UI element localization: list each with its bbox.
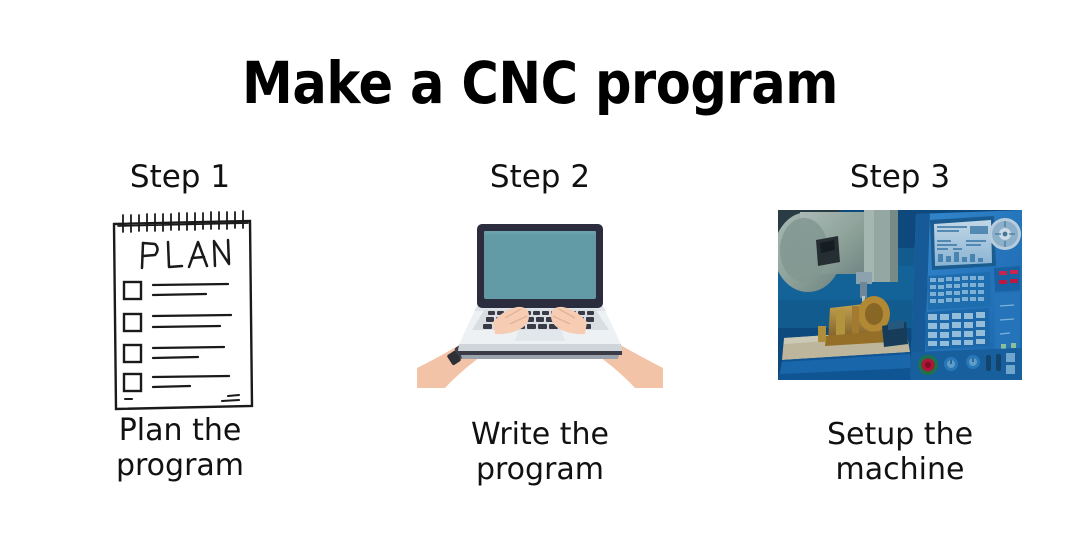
- step-caption-1: Plan the program: [116, 413, 244, 483]
- step-caption-2: Write the program: [471, 417, 609, 487]
- step-label-1: Step 1: [130, 162, 230, 193]
- steps-row: Step 1: [0, 150, 1080, 540]
- page-title: Make a CNC program: [65, 52, 1015, 115]
- step-caption-3: Setup the machine: [827, 417, 973, 487]
- step-label-2: Step 2: [490, 162, 590, 193]
- step-column-3: Step 3: [720, 150, 1080, 540]
- notepad-sketch-icon: [98, 210, 263, 415]
- step-art-1: [55, 210, 305, 395]
- step-column-1: Step 1: [0, 150, 360, 540]
- slide-root: Make a CNC program Step 1: [0, 0, 1080, 540]
- step-label-3: Step 3: [850, 162, 950, 193]
- step-art-3: [775, 210, 1025, 395]
- laptop-typing-hands-illustration: [415, 210, 665, 390]
- step-art-2: [415, 210, 665, 395]
- step-column-2: Step 2: [360, 150, 720, 540]
- cnc-machine-photo: [778, 210, 1022, 380]
